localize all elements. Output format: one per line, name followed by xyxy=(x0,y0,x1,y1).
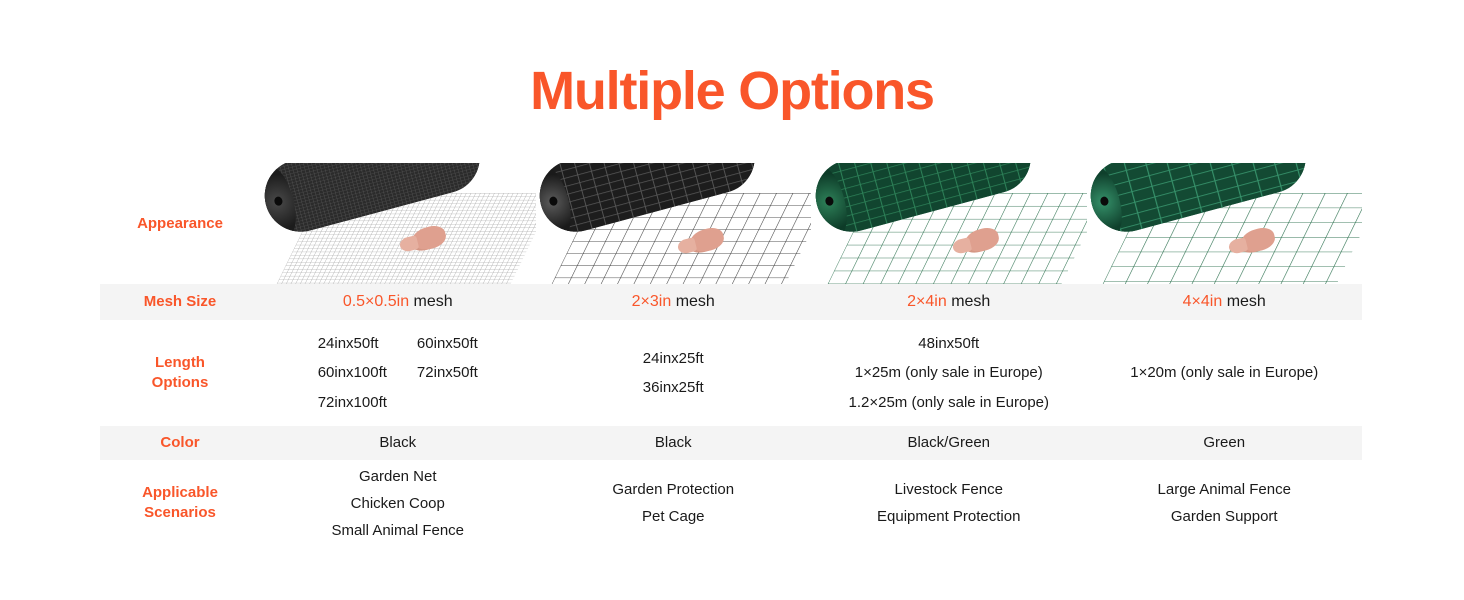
scenario-item: Garden Net xyxy=(331,463,464,490)
table-row-color: Color Black Black Black/Green Green xyxy=(100,426,1362,460)
table-row-length-options: Length Options 24inx50ft 60inx50ft 60inx… xyxy=(100,320,1362,426)
scenario-item: Chicken Coop xyxy=(331,490,464,517)
scenario-item: Small Animal Fence xyxy=(331,517,464,544)
scenario-item: Large Animal Fence xyxy=(1158,476,1291,503)
row-label-applicable-scenarios: Applicable Scenarios xyxy=(100,460,260,546)
mesh-size-value-1: 0.5×0.5in mesh xyxy=(343,288,453,316)
mesh-size-value-3: 2×4in mesh xyxy=(907,288,990,316)
mesh-dimension-3: 2×4in xyxy=(907,293,947,310)
mesh-size-value-4: 4×4in mesh xyxy=(1183,288,1266,316)
options-comparison-table: Appearance xyxy=(100,163,1362,546)
mesh-size-cell-1: 0.5×0.5in mesh xyxy=(260,284,536,320)
mesh-word-2: mesh xyxy=(676,293,715,310)
page-title: Multiple Options xyxy=(0,62,1464,121)
mesh-word-4: mesh xyxy=(1227,293,1266,310)
row-label-mesh-size: Mesh Size xyxy=(100,284,260,320)
mesh-word-3: mesh xyxy=(951,293,990,310)
comparison-page: Multiple Options Appearance xyxy=(0,0,1464,600)
row-label-length-options: Length Options xyxy=(100,320,260,426)
appearance-cell-1 xyxy=(260,163,536,284)
scenario-item: Garden Support xyxy=(1158,503,1291,530)
length-options-cell-1: 24inx50ft 60inx50ft 60inx100ft 72inx50ft… xyxy=(260,320,536,426)
length-option-item: 36inx25ft xyxy=(643,373,704,402)
product-image-4 xyxy=(1087,163,1363,284)
mesh-size-cell-2: 2×3in mesh xyxy=(536,284,812,320)
color-cell-4: Green xyxy=(1087,426,1363,460)
length-option-item: 24inx50ft xyxy=(318,329,379,358)
color-cell-2: Black xyxy=(536,426,812,460)
scenario-item: Livestock Fence xyxy=(877,476,1020,503)
appearance-cell-4 xyxy=(1087,163,1363,284)
length-option-item: 1×25m (only sale in Europe) xyxy=(848,358,1049,387)
scenarios-cell-1: Garden Net Chicken Coop Small Animal Fen… xyxy=(260,460,536,546)
length-options-cell-4: 1×20m (only sale in Europe) xyxy=(1087,320,1363,426)
length-options-list-4: 1×20m (only sale in Europe) xyxy=(1130,358,1318,387)
length-option-item: 60inx100ft xyxy=(318,358,387,387)
scenario-item: Equipment Protection xyxy=(877,503,1020,530)
length-option-item: 72inx100ft xyxy=(318,388,387,417)
mesh-dimension-4: 4×4in xyxy=(1183,293,1223,310)
length-option-item: 1×20m (only sale in Europe) xyxy=(1130,358,1318,387)
length-option-item: 72inx50ft xyxy=(417,358,478,387)
row-label-scenarios-line1: Applicable xyxy=(142,484,218,501)
row-label-length-line2: Options xyxy=(152,374,209,391)
product-image-2 xyxy=(536,163,812,284)
mesh-size-cell-4: 4×4in mesh xyxy=(1087,284,1363,320)
length-options-grid-1: 24inx50ft 60inx50ft 60inx100ft 72inx50ft… xyxy=(318,329,478,417)
length-option-item: 1.2×25m (only sale in Europe) xyxy=(848,388,1049,417)
scenarios-cell-3: Livestock Fence Equipment Protection xyxy=(811,460,1087,546)
length-options-cell-2: 24inx25ft 36inx25ft xyxy=(536,320,812,426)
product-image-1 xyxy=(260,163,536,284)
length-option-item: 24inx25ft xyxy=(643,344,704,373)
table-row-mesh-size: Mesh Size 0.5×0.5in mesh 2×3in mesh 2×4i… xyxy=(100,284,1362,320)
mesh-word-1: mesh xyxy=(414,293,453,310)
scenarios-cell-2: Garden Protection Pet Cage xyxy=(536,460,812,546)
mesh-dimension-1: 0.5×0.5in xyxy=(343,293,409,310)
mesh-size-cell-3: 2×4in mesh xyxy=(811,284,1087,320)
scenarios-cell-4: Large Animal Fence Garden Support xyxy=(1087,460,1363,546)
color-cell-1: Black xyxy=(260,426,536,460)
appearance-cell-3 xyxy=(811,163,1087,284)
length-options-cell-3: 48inx50ft 1×25m (only sale in Europe) 1.… xyxy=(811,320,1087,426)
row-label-length-line1: Length xyxy=(155,354,205,371)
row-label-scenarios-line2: Scenarios xyxy=(144,504,216,521)
table-row-appearance: Appearance xyxy=(100,163,1362,284)
row-label-color: Color xyxy=(100,426,260,460)
color-cell-3: Black/Green xyxy=(811,426,1087,460)
mesh-dimension-2: 2×3in xyxy=(632,293,672,310)
table-row-applicable-scenarios: Applicable Scenarios Garden Net Chicken … xyxy=(100,460,1362,546)
mesh-size-value-2: 2×3in mesh xyxy=(632,288,715,316)
row-label-appearance: Appearance xyxy=(100,163,260,284)
scenario-item: Garden Protection xyxy=(612,476,734,503)
scenario-item: Pet Cage xyxy=(612,503,734,530)
appearance-cell-2 xyxy=(536,163,812,284)
length-option-item: 60inx50ft xyxy=(417,329,478,358)
product-image-3 xyxy=(811,163,1087,284)
length-options-list-3: 48inx50ft 1×25m (only sale in Europe) 1.… xyxy=(848,329,1049,417)
length-options-list-2: 24inx25ft 36inx25ft xyxy=(643,344,704,403)
length-option-item: 48inx50ft xyxy=(848,329,1049,358)
